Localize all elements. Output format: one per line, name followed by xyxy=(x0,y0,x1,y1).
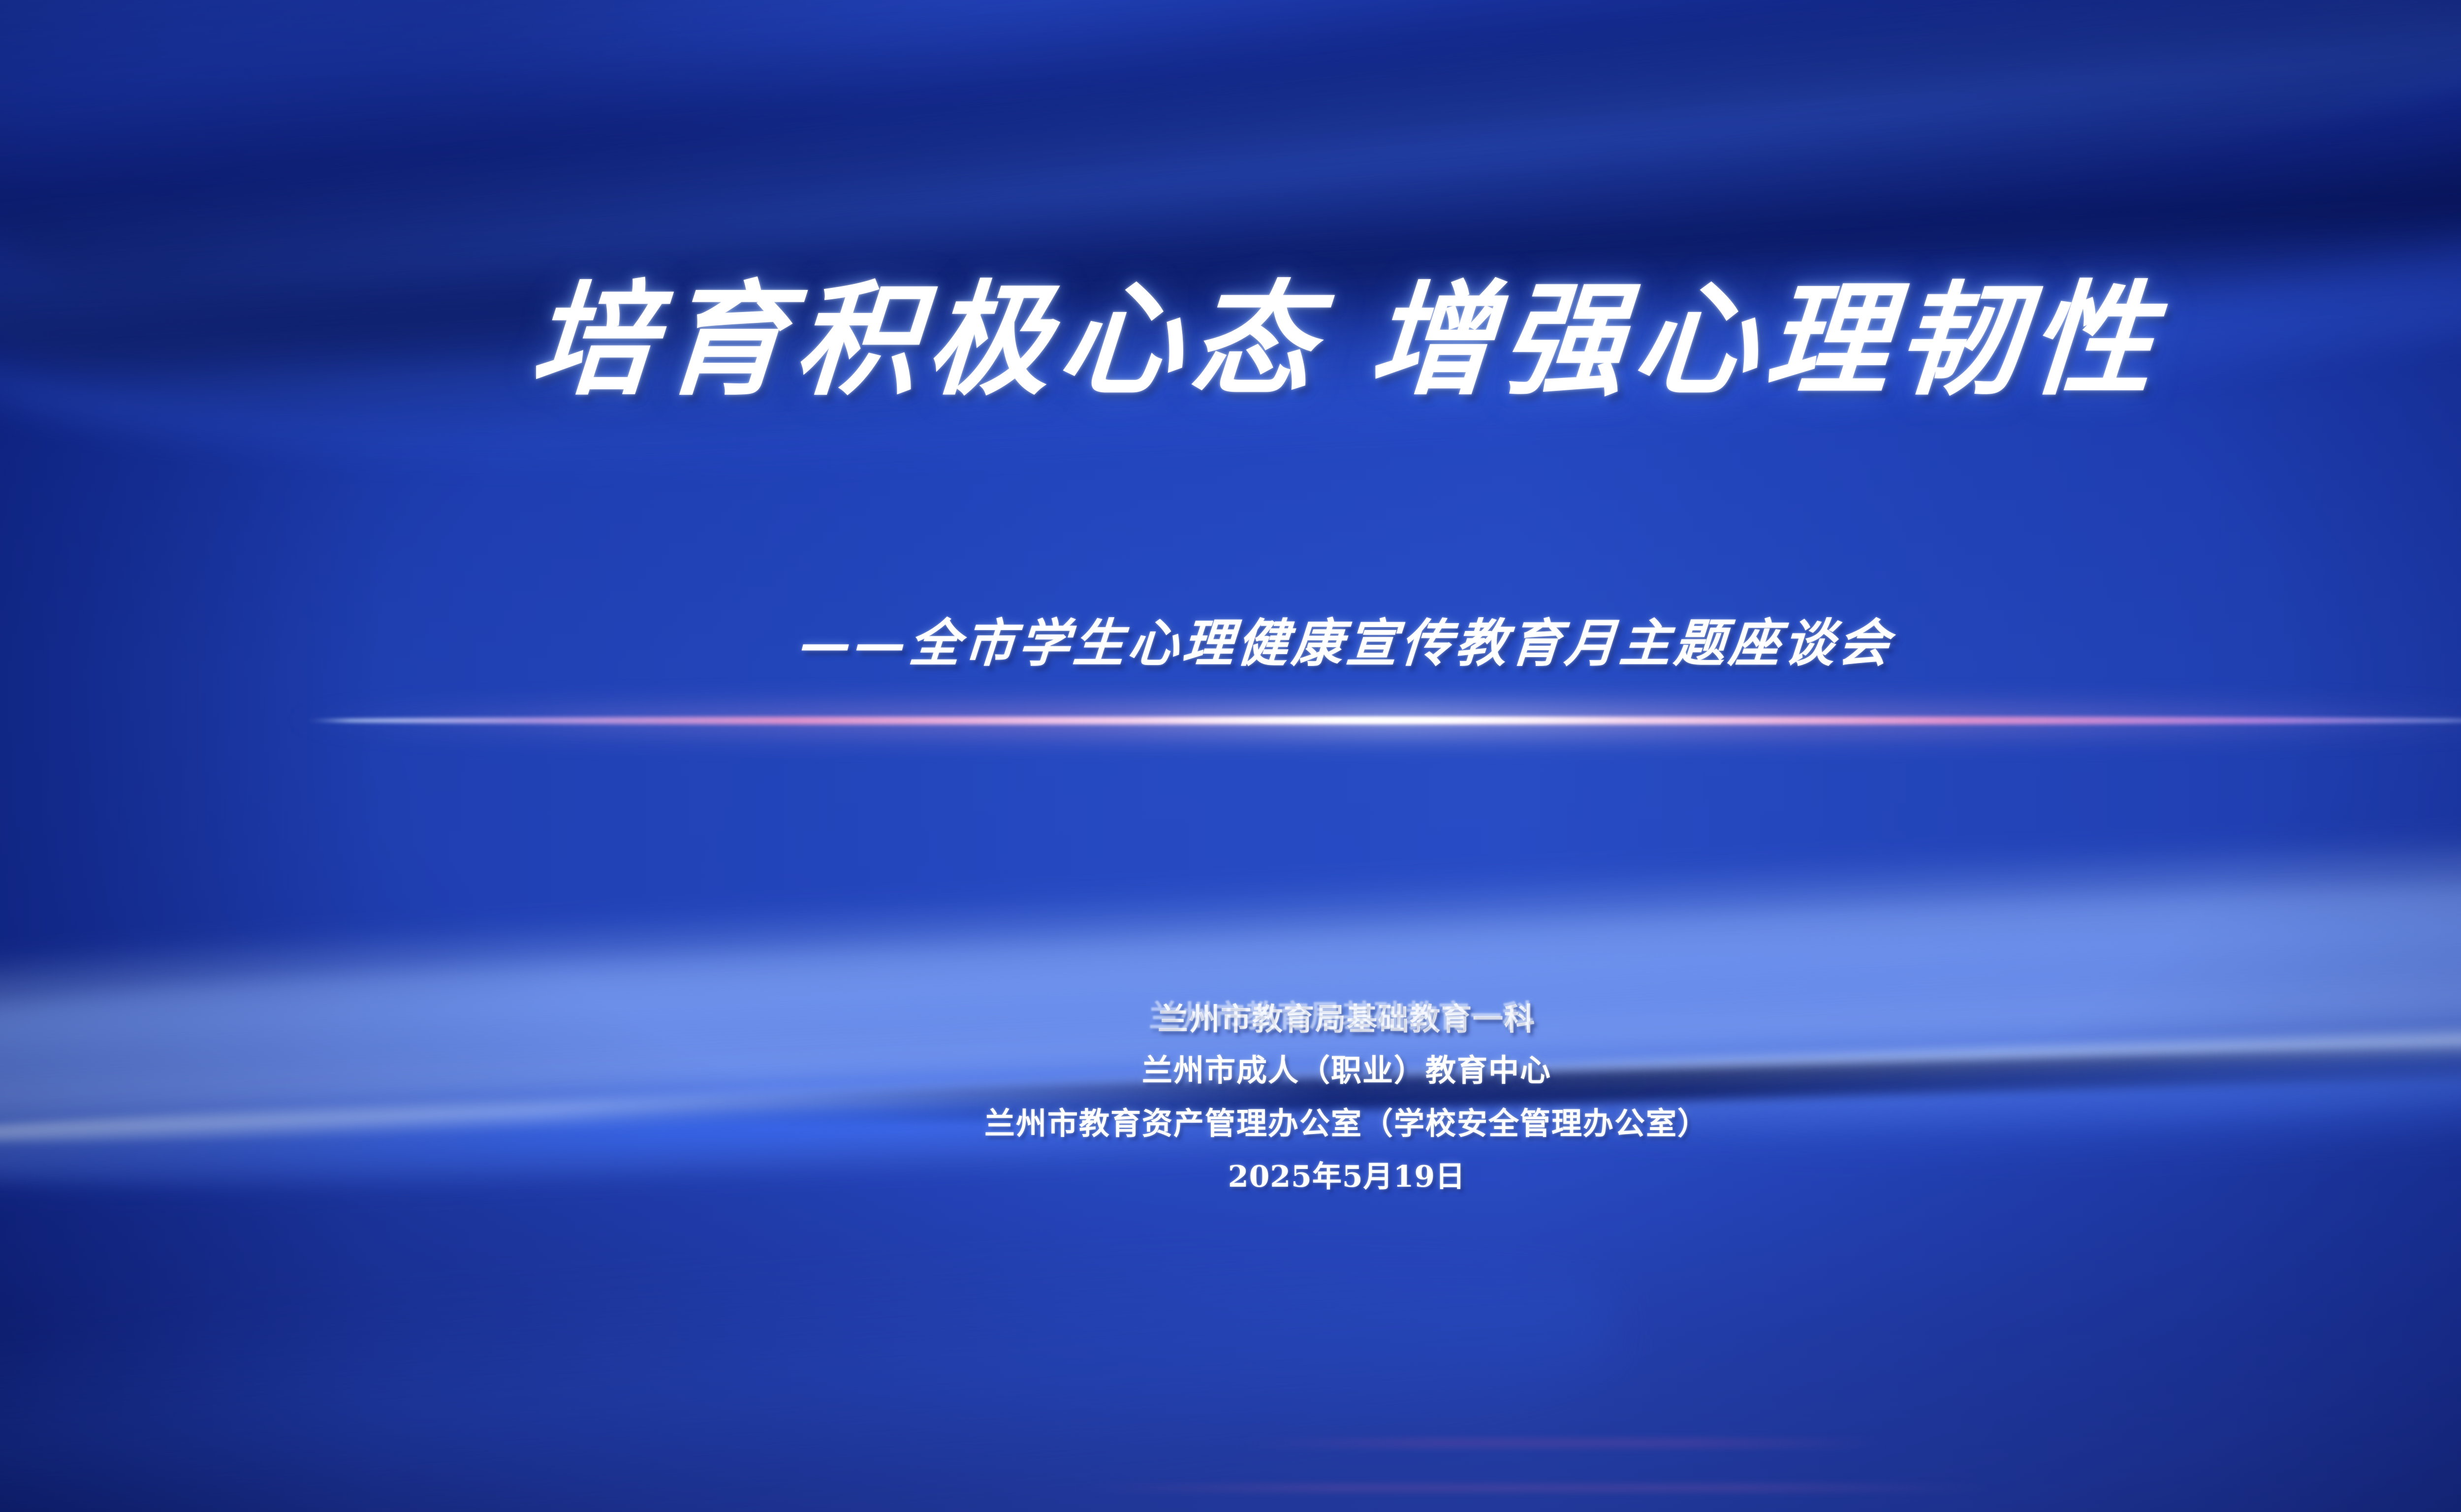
page-title-right: 增强心理韧性 xyxy=(1365,267,2167,412)
organizer-line-1: 兰州市教育局基础教育一科 兰州市教育局基础教育一科 xyxy=(0,994,2461,1039)
page-title-left: 培育积极心态 xyxy=(527,267,1328,412)
organizer-line-3: 兰州市教育资产管理办公室（学校安全管理办公室） xyxy=(0,1099,2461,1143)
event-date: 2025年5月19日 xyxy=(0,1153,2461,1196)
presentation-slide: 培育积极心态增强心理韧性 ——全市学生心理健康宣传教育月主题座谈会 兰州市教育局… xyxy=(0,0,2461,1512)
page-subtitle: ——全市学生心理健康宣传教育月主题座谈会 xyxy=(0,601,2461,676)
organizer-block: 兰州市教育局基础教育一科 兰州市教育局基础教育一科 兰州市成人（职业）教育中心 … xyxy=(0,994,2461,1196)
organizer-line-2: 兰州市成人（职业）教育中心 xyxy=(0,1045,2461,1090)
organizer-line-1-ghost: 兰州市教育局基础教育一科 xyxy=(0,991,2461,1036)
page-title: 培育积极心态增强心理韧性 xyxy=(0,276,2461,404)
divider-bright-core xyxy=(1122,718,1654,723)
